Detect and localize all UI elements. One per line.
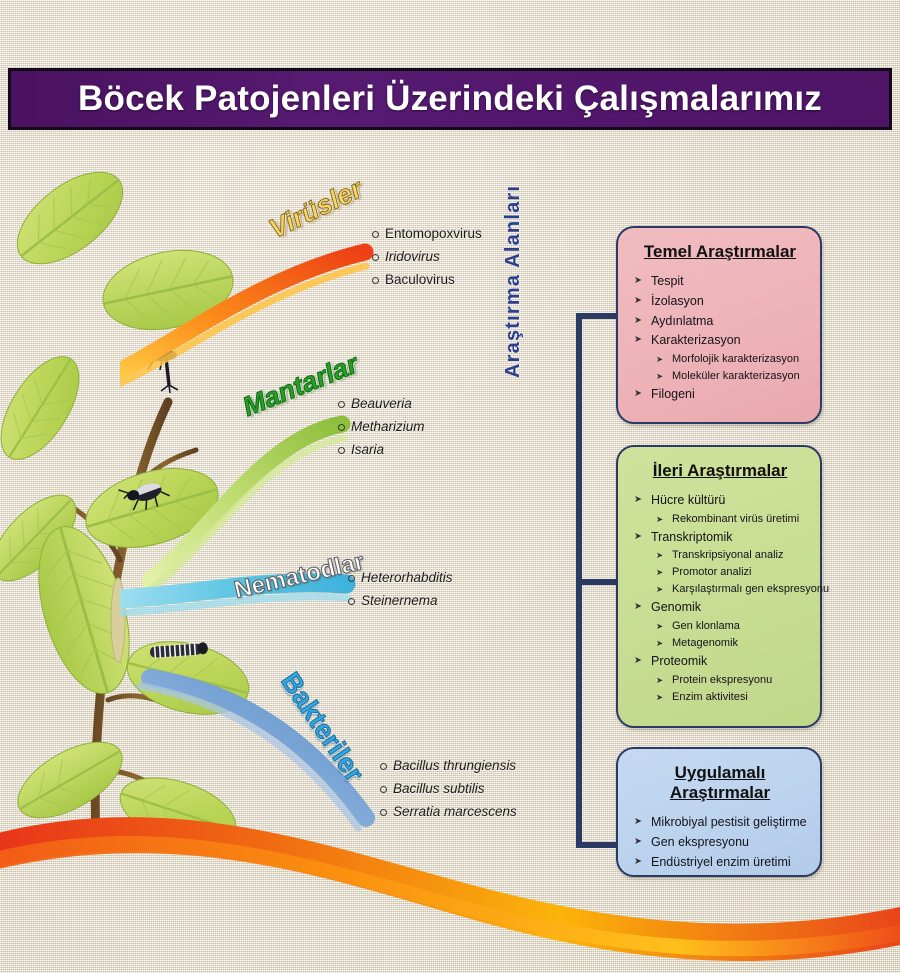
poster-canvas: Böcek Patojenleri Üzerindeki Çalışmaları… <box>0 0 900 973</box>
species-list-fungi: Beauveria Metharizium Isaria <box>338 396 425 465</box>
list-item: Tespit <box>634 274 806 289</box>
list-item: Metagenomik <box>634 637 806 650</box>
list-item: Enzim aktivitesi <box>634 691 806 704</box>
list-item: Morfolojik karakterizasyon <box>634 353 806 366</box>
list-item: Hücre kültürü <box>634 493 806 508</box>
research-box-basic[interactable]: Temel Araştırmalar Tespit İzolasyon Aydı… <box>616 226 822 424</box>
list-item: Filogeni <box>634 387 806 402</box>
list-item: Genomik <box>634 600 806 615</box>
list-item: Iridovirus <box>372 249 482 264</box>
species-list-nematode: Heterorhabditis Steinernema <box>348 570 453 616</box>
research-box-advanced[interactable]: İleri Araştırmalar Hücre kültürü Rekombi… <box>616 445 822 728</box>
list-item: Protein ekspresyonu <box>634 674 806 687</box>
list-item: Gen klonlama <box>634 620 806 633</box>
bottom-wave-decoration <box>0 793 900 973</box>
list-item: Promotor analizi <box>634 566 806 579</box>
list-item: Karakterizasyon <box>634 333 806 348</box>
poster-title-bar: Böcek Patojenleri Üzerindeki Çalışmaları… <box>8 68 892 130</box>
list-item: Transkripsiyonal analiz <box>634 549 806 562</box>
list-item: Karşılaştırmalı gen ekspresyonu <box>634 583 806 596</box>
box-heading-basic: Temel Araştırmalar <box>634 242 806 264</box>
research-areas-axis-label: Araştırma Alanları <box>502 158 542 378</box>
list-item: Isaria <box>338 442 425 457</box>
list-item: İzolasyon <box>634 294 806 309</box>
list-item: Steinernema <box>348 593 453 608</box>
list-item: Baculovirus <box>372 272 482 287</box>
axis-label-text: Araştırma Alanları <box>502 158 525 378</box>
list-item: Rekombinant virüs üretimi <box>634 513 806 526</box>
list-item: Entomopoxvirus <box>372 226 482 241</box>
list-item: Bacillus thrungiensis <box>380 758 517 773</box>
list-item: Metharizium <box>338 419 425 434</box>
list-item: Beauveria <box>338 396 425 411</box>
list-item: Moleküler karakterizasyon <box>634 370 806 383</box>
list-item: Aydınlatma <box>634 314 806 329</box>
page-title: Böcek Patojenleri Üzerindeki Çalışmaları… <box>78 79 822 119</box>
species-list-virus: Entomopoxvirus Iridovirus Baculovirus <box>372 226 482 295</box>
list-item: Transkriptomik <box>634 530 806 545</box>
list-item: Proteomik <box>634 654 806 669</box>
list-item: Heterorhabditis <box>348 570 453 585</box>
box-heading-advanced: İleri Araştırmalar <box>634 461 806 483</box>
